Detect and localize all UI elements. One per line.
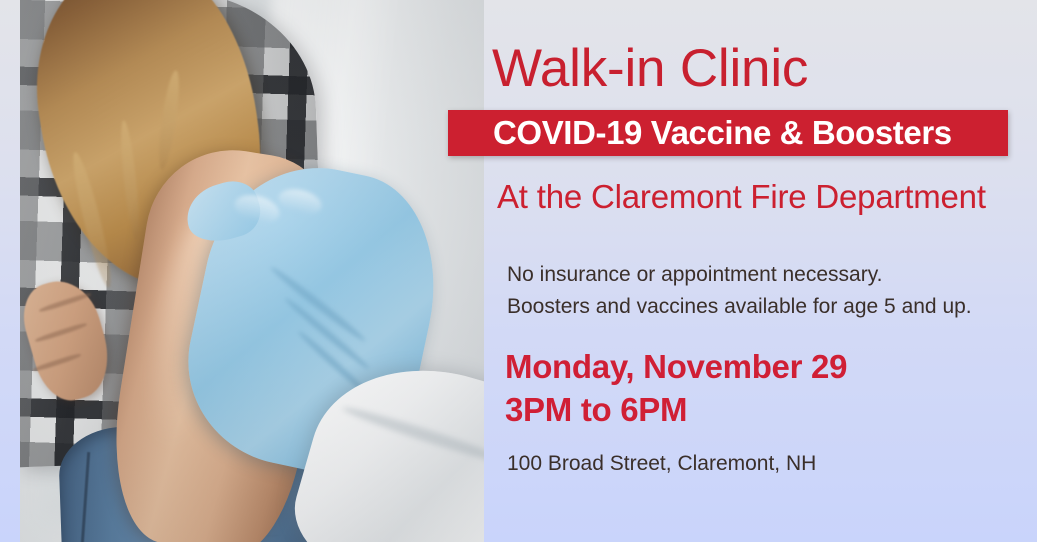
eligibility-note: No insurance or appointment necessary. B…	[507, 259, 972, 323]
banner-strip: COVID-19 Vaccine & Boosters	[448, 110, 1008, 156]
flyer-canvas: Walk-in Clinic COVID-19 Vaccine & Booste…	[0, 0, 1037, 542]
page-title: Walk-in Clinic	[492, 41, 808, 97]
event-address: 100 Broad Street, Claremont, NH	[507, 452, 816, 476]
location-subtitle: At the Claremont Fire Department	[497, 178, 986, 216]
event-datetime: Monday, November 29 3PM to 6PM	[505, 346, 847, 432]
event-time: 3PM to 6PM	[505, 389, 847, 432]
clinic-photo	[20, 0, 484, 542]
event-date: Monday, November 29	[505, 346, 847, 389]
note-line-1: No insurance or appointment necessary.	[507, 259, 972, 291]
note-line-2: Boosters and vaccines available for age …	[507, 291, 972, 323]
banner-title: COVID-19 Vaccine & Boosters	[493, 114, 952, 152]
